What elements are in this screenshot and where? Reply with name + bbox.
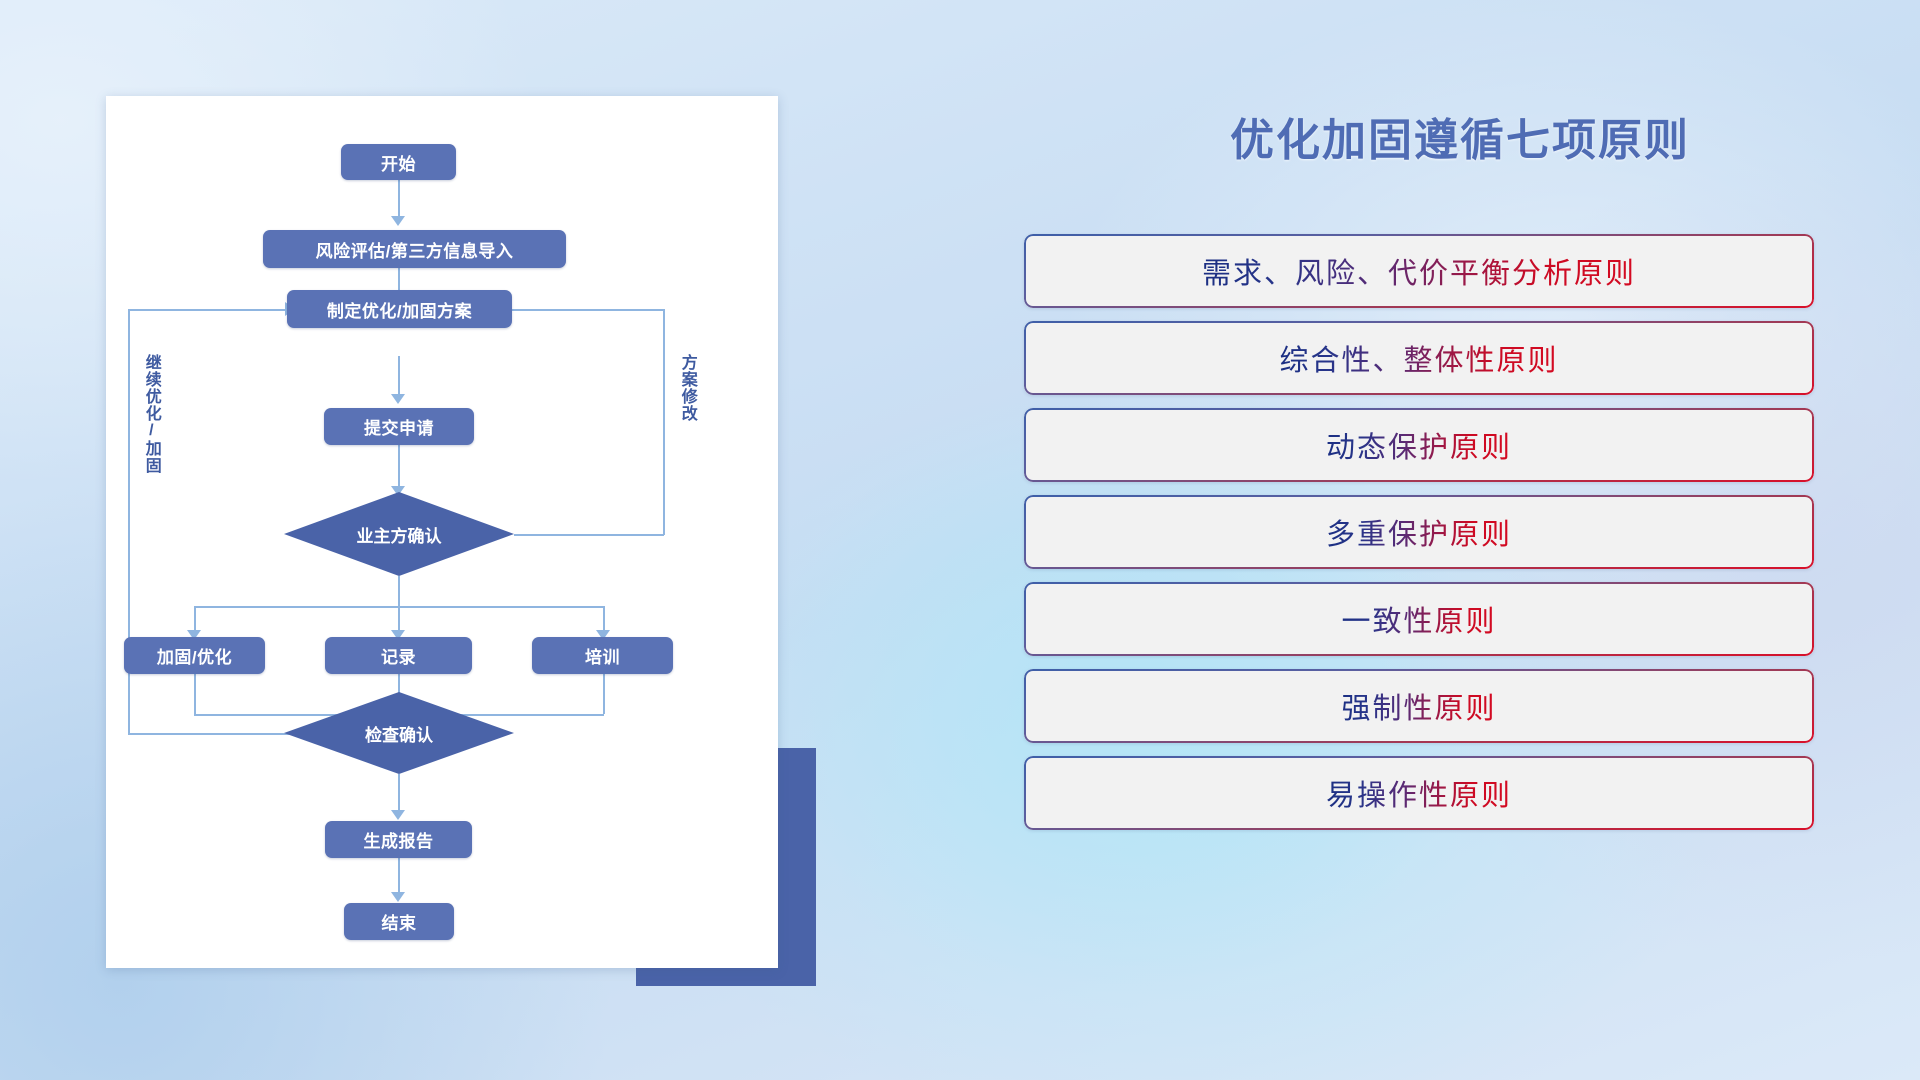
flow-node-record[interactable]: 记录 [325,637,472,674]
connector-owner-right [514,534,664,536]
connector-left-loop-to-plan [128,309,288,311]
flow-node-end[interactable]: 结束 [344,903,454,940]
connector-train-down [603,674,605,714]
flow-node-reinforce[interactable]: 加固/优化 [124,637,265,674]
principle-item-7-label: 易操作性原则 [1326,772,1512,814]
principle-item-4[interactable]: 多重保护原则 [1024,495,1814,569]
arrow-plan-to-submit [391,394,405,404]
connector-right-loop-vertical [663,309,665,535]
flow-node-record-label: 记录 [381,643,416,668]
principle-list: 需求、风险、代价平衡分析原则 综合性、整体性原则 动态保护原则 多重保护原则 一… [1024,234,1814,843]
arrow-start-to-risk [391,216,405,226]
connector-right-loop-to-plan [494,309,664,311]
flow-node-report[interactable]: 生成报告 [325,821,472,858]
page-title: 优化加固遵循七项原则 [1150,104,1770,168]
connector-check-left [128,733,291,735]
flow-node-submit-label: 提交申请 [364,414,434,439]
flowchart-canvas: 开始 风险评估/第三方信息导入 制定优化/加固方案 提交申请 业主方确认 加固/… [106,96,778,968]
flow-node-plan[interactable]: 制定优化/加固方案 [287,290,512,328]
principle-item-5-label: 一致性原则 [1341,598,1496,640]
principle-item-6-label: 强制性原则 [1341,685,1496,727]
principle-item-5[interactable]: 一致性原则 [1024,582,1814,656]
flow-node-risk-assessment-label: 风险评估/第三方信息导入 [316,237,514,262]
flow-node-start-label: 开始 [381,150,416,175]
connector-owner-down [398,576,400,606]
flow-node-report-label: 生成报告 [364,827,434,852]
principle-item-3-label: 动态保护原则 [1326,424,1512,466]
flow-decision-inspection-label: 检查确认 [365,721,433,746]
principle-item-7[interactable]: 易操作性原则 [1024,756,1814,830]
principle-item-1-label: 需求、风险、代价平衡分析原则 [1202,250,1636,292]
arrow-check-to-report [391,810,405,820]
flow-decision-inspection[interactable]: 检查确认 [284,692,514,774]
flow-decision-owner-confirm[interactable]: 业主方确认 [284,492,514,576]
flow-node-start[interactable]: 开始 [341,144,456,180]
flow-node-plan-label: 制定优化/加固方案 [327,297,472,322]
arrow-report-to-end [391,892,405,902]
flow-node-training-label: 培训 [585,643,620,668]
principle-item-1[interactable]: 需求、风险、代价平衡分析原则 [1024,234,1814,308]
flow-node-reinforce-label: 加固/优化 [157,643,232,668]
flow-node-submit[interactable]: 提交申请 [324,408,474,445]
principle-item-3[interactable]: 动态保护原则 [1024,408,1814,482]
principle-item-4-label: 多重保护原则 [1326,511,1512,553]
slide-root: 开始 风险评估/第三方信息导入 制定优化/加固方案 提交申请 业主方确认 加固/… [0,0,1920,1080]
loop-label-continue-optimize: 继续优化/加固 [142,354,159,474]
principle-item-6[interactable]: 强制性原则 [1024,669,1814,743]
flowchart-card: 开始 风险评估/第三方信息导入 制定优化/加固方案 提交申请 业主方确认 加固/… [106,96,778,968]
loop-label-plan-revision: 方案修改 [678,354,695,422]
flow-decision-owner-confirm-label: 业主方确认 [357,522,442,547]
connector-submit-to-owner [398,444,400,492]
principle-item-2-label: 综合性、整体性原则 [1279,337,1558,379]
flow-node-training[interactable]: 培训 [532,637,673,674]
connector-reinforce-down [194,674,196,714]
principle-item-2[interactable]: 综合性、整体性原则 [1024,321,1814,395]
flow-node-risk-assessment[interactable]: 风险评估/第三方信息导入 [263,230,566,268]
flow-node-end-label: 结束 [382,909,417,934]
